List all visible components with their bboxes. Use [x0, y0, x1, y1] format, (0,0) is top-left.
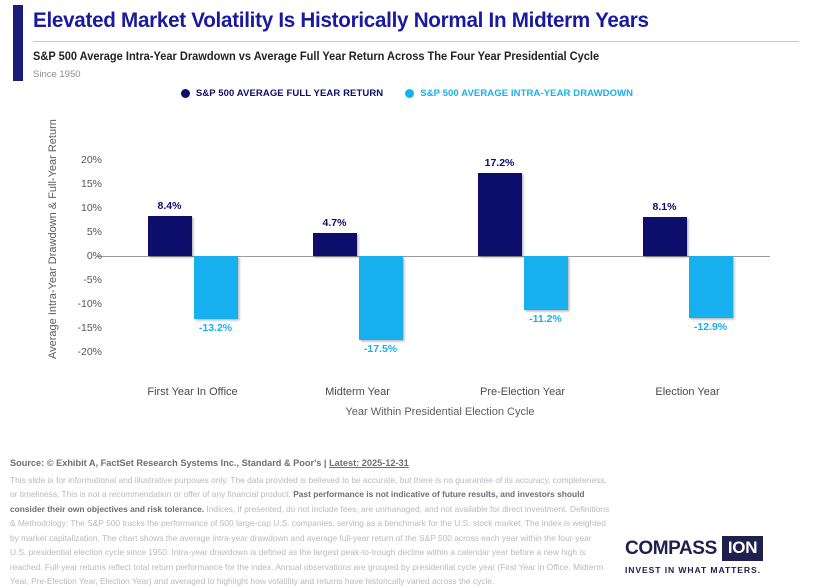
x-axis-category-label: Midterm Year: [325, 386, 390, 398]
header-divider: [33, 41, 799, 42]
legend-label-full-year-return: S&P 500 AVERAGE FULL YEAR RETURN: [196, 88, 383, 99]
bar-value-label: -12.9%: [694, 321, 727, 333]
y-axis-tick: 15%: [81, 178, 102, 190]
chart-legend: S&P 500 AVERAGE FULL YEAR RETURN S&P 500…: [0, 88, 814, 99]
disclaimer-text: This slide is for informational and illu…: [10, 473, 610, 588]
y-axis-tick: -10%: [77, 298, 102, 310]
brand-logo: COMPASS ION INVEST IN WHAT MATTERS.: [625, 536, 763, 575]
y-axis-tick: -15%: [77, 322, 102, 334]
slide-root: Elevated Market Volatility Is Historical…: [0, 0, 814, 588]
page-title: Elevated Market Volatility Is Historical…: [33, 8, 649, 33]
x-axis-category-label: Election Year: [655, 386, 719, 398]
title-accent-bar: [13, 5, 23, 81]
since-label: Since 1950: [33, 69, 81, 80]
legend-item-intra-year-drawdown[interactable]: S&P 500 AVERAGE INTRA-YEAR DRAWDOWN: [405, 88, 633, 99]
y-axis-title: Average Intra-Year Drawdown & Full-Year …: [47, 129, 59, 359]
bar-full-year-return[interactable]: [148, 216, 192, 256]
bar-intra-year-drawdown[interactable]: [359, 256, 403, 340]
bar-value-label: -13.2%: [199, 322, 232, 334]
footer: Source: © Exhibit A, FactSet Research Sy…: [10, 458, 610, 588]
chart-plot-area: Average Intra-Year Drawdown & Full-Year …: [0, 120, 814, 440]
logo-wordmark: COMPASS ION: [625, 536, 763, 561]
bar-value-label: 8.1%: [653, 201, 677, 213]
y-axis-tick: 0%: [87, 250, 102, 262]
bar-value-label: -17.5%: [364, 343, 397, 355]
bar-full-year-return[interactable]: [643, 217, 687, 256]
legend-dot-navy-icon: [181, 89, 190, 98]
page-subtitle: S&P 500 Average Intra-Year Drawdown vs A…: [33, 51, 599, 63]
legend-item-full-year-return[interactable]: S&P 500 AVERAGE FULL YEAR RETURN: [181, 88, 383, 99]
source-prefix: Source: © Exhibit A, FactSet Research Sy…: [10, 458, 329, 468]
x-axis-category-label: Pre-Election Year: [480, 386, 565, 398]
bar-intra-year-drawdown[interactable]: [524, 256, 568, 310]
logo-word-compass: COMPASS: [625, 538, 717, 560]
y-axis-tick: 10%: [81, 202, 102, 214]
bar-full-year-return[interactable]: [478, 173, 522, 256]
source-line: Source: © Exhibit A, FactSet Research Sy…: [10, 458, 610, 468]
bar-intra-year-drawdown[interactable]: [689, 256, 733, 318]
x-axis-category-label: First Year In Office: [147, 386, 237, 398]
bar-value-label: 17.2%: [485, 157, 515, 169]
logo-word-ion: ION: [722, 536, 763, 561]
y-axis-tick: -20%: [77, 346, 102, 358]
y-axis-tick: 5%: [87, 226, 102, 238]
bar-full-year-return[interactable]: [313, 233, 357, 256]
legend-dot-lightblue-icon: [405, 89, 414, 98]
legend-label-intra-year-drawdown: S&P 500 AVERAGE INTRA-YEAR DRAWDOWN: [420, 88, 633, 99]
y-axis-tick: -5%: [83, 274, 102, 286]
bar-value-label: 8.4%: [158, 200, 182, 212]
logo-tagline: INVEST IN WHAT MATTERS.: [625, 565, 763, 575]
bar-value-label: -11.2%: [529, 313, 562, 325]
chart-axes: 20%15%10%5%0%-5%-10%-15%-20%8.4%-13.2%Fi…: [110, 160, 770, 352]
disclaimer-part2: Indices, if presented, do not include fe…: [10, 504, 609, 586]
bar-value-label: 4.7%: [323, 217, 347, 229]
y-axis-tick: 20%: [81, 154, 102, 166]
x-axis-title: Year Within Presidential Election Cycle: [110, 406, 770, 418]
bar-intra-year-drawdown[interactable]: [194, 256, 238, 319]
source-latest: Latest: 2025-12-31: [329, 458, 409, 468]
